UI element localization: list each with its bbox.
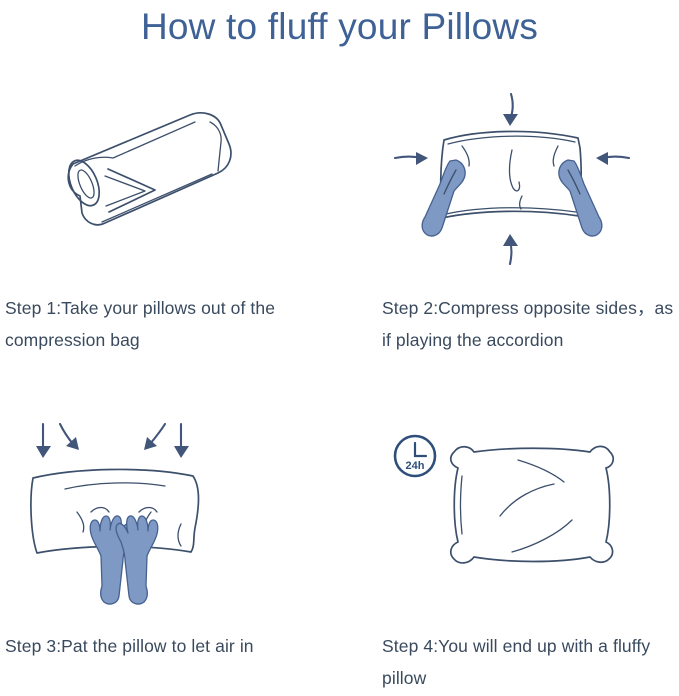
clock-24h-badge: 24h xyxy=(395,436,435,476)
step-1-caption: Step 1:Take your pillows out of the comp… xyxy=(5,292,305,356)
step-4-illustration: 24h xyxy=(382,416,679,628)
pat-pillow-icon xyxy=(31,424,199,604)
compression-bag-icon xyxy=(63,113,231,225)
step-1-illustration xyxy=(5,78,302,290)
step-2-caption: Step 2:Compress opposite sides，as if pla… xyxy=(382,292,679,356)
compress-pillow-icon xyxy=(395,94,629,264)
badge-label: 24h xyxy=(406,460,425,472)
arrow-down-right-a xyxy=(144,424,165,450)
step-card-3: Step 3:Pat the pillow to let air in xyxy=(5,416,305,662)
arrow-down-right-b xyxy=(174,424,189,458)
arrow-up-bottom xyxy=(503,234,518,264)
step-4-caption: Step 4:You will end up with a fluffy pil… xyxy=(382,630,679,694)
arrow-down-left-b xyxy=(60,424,79,450)
arrow-down-top xyxy=(503,94,518,126)
fluffy-pillow-icon xyxy=(451,446,613,563)
step-card-2: Step 2:Compress opposite sides，as if pla… xyxy=(382,78,679,356)
arrow-down-left-a xyxy=(36,424,51,458)
step-3-caption: Step 3:Pat the pillow to let air in xyxy=(5,630,305,662)
arrow-right-left xyxy=(395,152,428,165)
steps-grid: Step 1:Take your pillows out of the comp… xyxy=(0,78,679,696)
step-card-1: Step 1:Take your pillows out of the comp… xyxy=(5,78,305,356)
step-card-4: 24h Step 4:You will end up with a fluffy… xyxy=(382,416,679,694)
page-title: How to fluff your Pillows xyxy=(0,2,679,52)
step-2-illustration xyxy=(382,78,679,290)
step-3-illustration xyxy=(5,416,302,628)
infographic-page: How to fluff your Pillows xyxy=(0,0,679,696)
arrow-left-right xyxy=(596,152,629,165)
